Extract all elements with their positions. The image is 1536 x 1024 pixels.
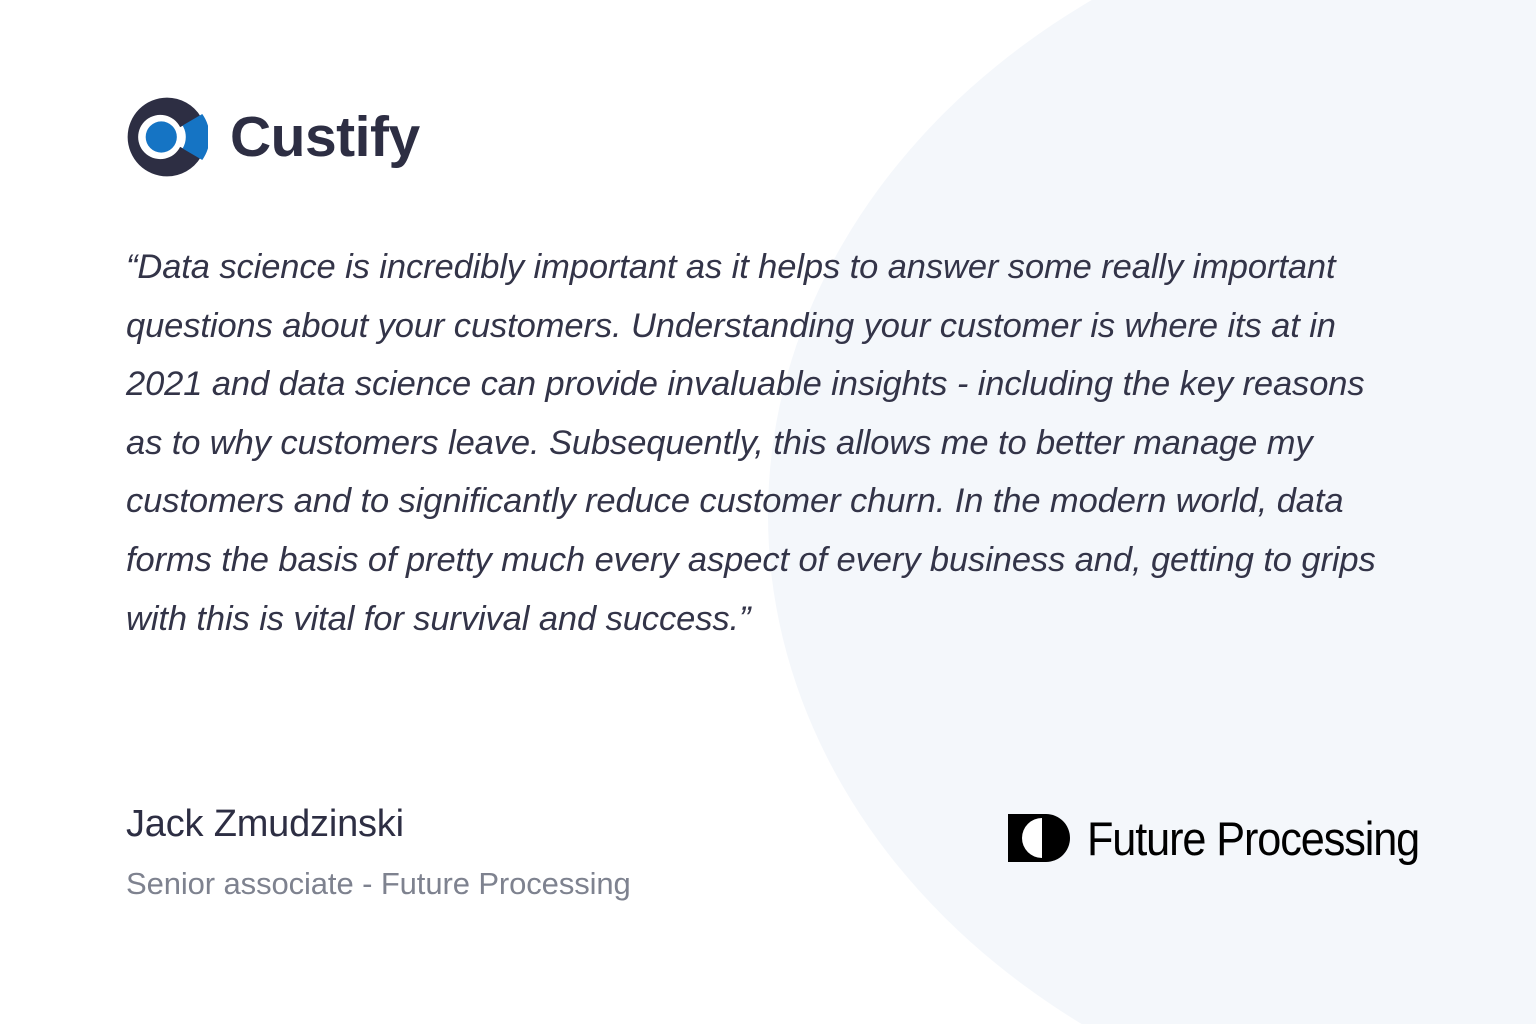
brand-header: Custify <box>126 96 420 178</box>
custify-logo-icon <box>126 96 208 178</box>
author-attribution: Jack Zmudzinski Senior associate - Futur… <box>126 800 631 903</box>
future-processing-logo-icon <box>1008 814 1070 862</box>
brand-name: Custify <box>230 109 420 166</box>
testimonial-card: Custify “Data science is incredibly impo… <box>0 0 1536 1024</box>
author-role: Senior associate - Future Processing <box>126 865 631 904</box>
partner-name: Future Processing <box>1087 815 1419 862</box>
partner-logo: Future Processing <box>1008 814 1448 862</box>
author-name: Jack Zmudzinski <box>126 800 631 849</box>
testimonial-quote: “Data science is incredibly important as… <box>126 238 1406 648</box>
